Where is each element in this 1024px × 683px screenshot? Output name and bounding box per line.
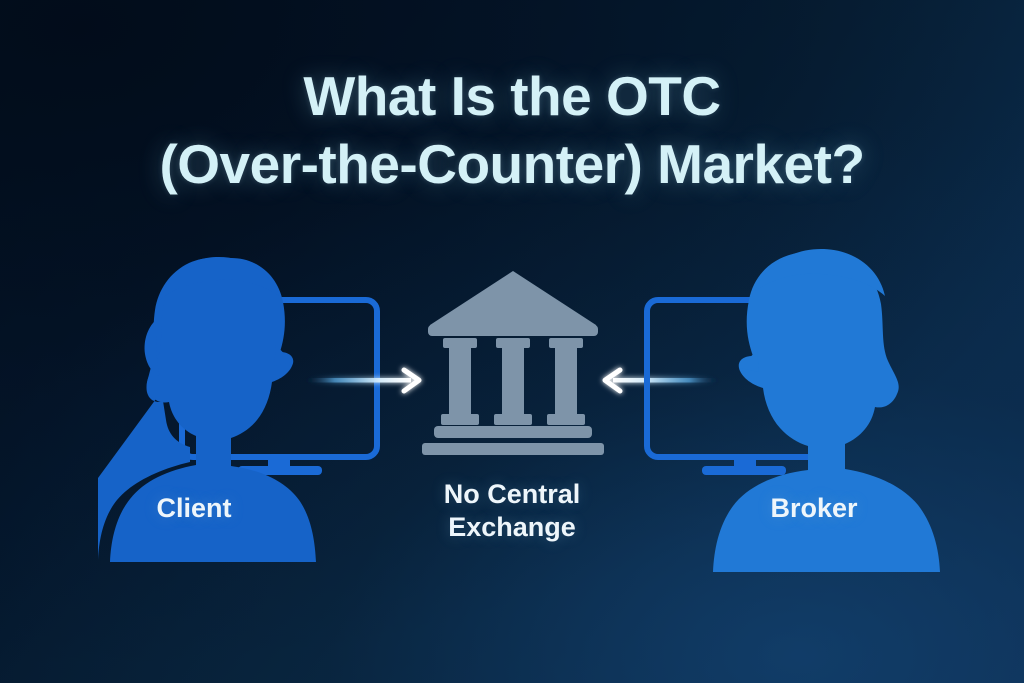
diagram-artwork [0, 0, 1024, 683]
label-no-central-exchange-line-1: No Central [444, 479, 581, 509]
label-broker: Broker [714, 492, 914, 525]
label-no-central-exchange-line-2: Exchange [448, 512, 576, 542]
infographic-canvas: What Is the OTC (Over-the-Counter) Marke… [0, 0, 1024, 683]
arrow-client-to-center [305, 370, 419, 391]
bank-building-icon [422, 271, 604, 455]
arrow-broker-to-center [605, 370, 719, 391]
label-client: Client [94, 492, 294, 525]
label-no-central-exchange: No Central Exchange [404, 478, 620, 544]
otc-market-diagram [0, 0, 1024, 683]
